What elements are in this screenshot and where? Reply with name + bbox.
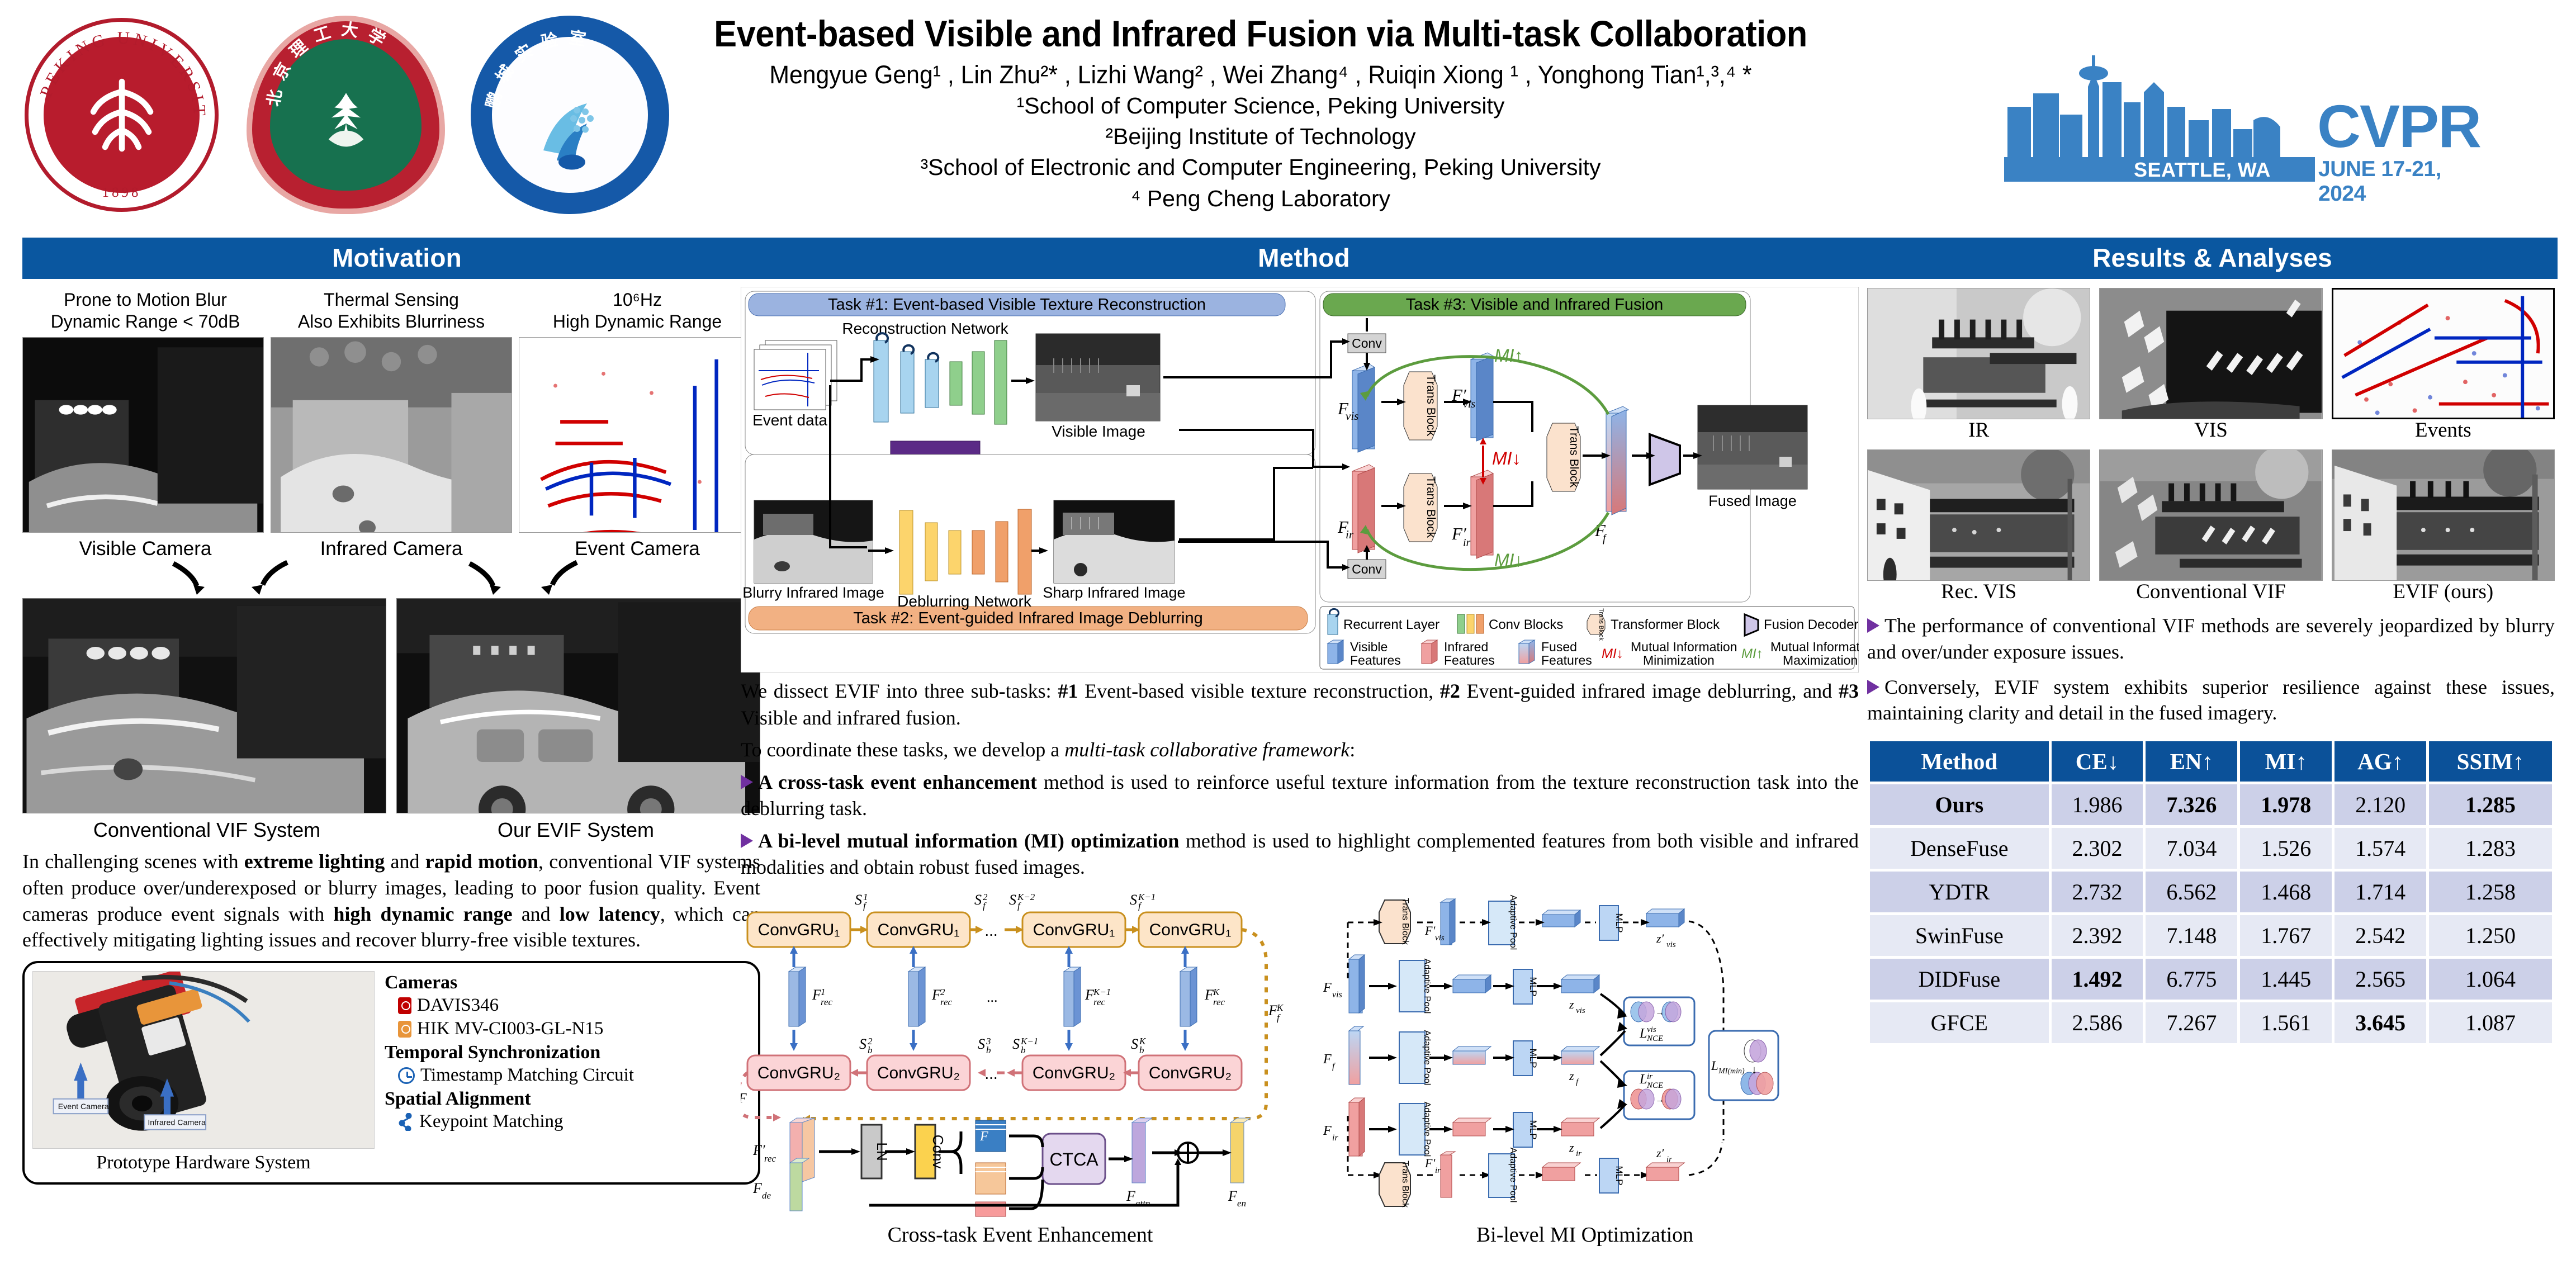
svg-text:Visible: Visible [1350,640,1388,654]
svg-text:S: S [974,892,982,908]
svg-text:F′: F′ [752,1142,765,1158]
table-row: SwinFuse2.3927.1481.7672.5421.250 [1870,915,2552,956]
svg-text:Adaptive Pool: Adaptive Pool [1508,894,1518,950]
motivation-column: Motivation Prone to Motion Blur Dynamic … [22,238,771,1185]
svg-text:NCE: NCE [1646,1034,1663,1043]
svg-text:Reconstruction Network: Reconstruction Network [842,320,1008,337]
visible-camera-image [22,337,264,533]
result-image-rec-vis [1867,449,2090,581]
svg-text:z′: z′ [1656,931,1665,945]
svg-text:K: K [1276,1002,1284,1013]
svg-text:Task #2: Event-guided Infrared: Task #2: Event-guided Infrared Image Deb… [853,609,1202,627]
svg-text:de: de [762,1190,771,1201]
result-caption-conventional-vif: Conventional VIF [2099,580,2322,604]
cell-metric: 1.561 [2240,1002,2332,1043]
svg-text:Mutual Information: Mutual Information [1770,640,1859,654]
svg-text:Fused Image: Fused Image [1708,493,1797,509]
cvpr-wordmark: CVPR [2317,101,2480,152]
svg-text:vis: vis [1647,1025,1656,1034]
svg-text:NCE: NCE [1646,1081,1663,1090]
svg-text:S: S [1012,1036,1020,1052]
svg-text:Event Camera: Event Camera [58,1102,109,1111]
cell-metric: 3.645 [2334,1002,2426,1043]
cell-method: Ours [1870,784,2049,825]
svg-text:F: F [741,1091,747,1106]
col-header-ce: CE↓ [2052,741,2143,782]
svg-text:ConvGRU₂: ConvGRU₂ [1033,1064,1115,1082]
svg-text:...: ... [987,989,998,1005]
svg-text:F: F [1228,1188,1238,1204]
hardware-item-davis346: DAVIS346 [385,995,750,1016]
cell-metric: 7.034 [2146,828,2237,869]
svg-text:1: 1 [821,987,826,997]
svg-text:Conv: Conv [1352,562,1382,576]
svg-text:Fused: Fused [1541,640,1577,654]
svg-text:S: S [859,1036,866,1052]
svg-text:MI(min): MI(min) [1718,1067,1745,1076]
cell-metric: 1.492 [2052,959,2143,1000]
hardware-heading-spatial: Spatial Alignment [385,1088,750,1110]
svg-text:Minimization: Minimization [1643,653,1715,667]
peking-university-logo: PEKING UNIVERSITY 1898 [17,10,226,220]
svg-text:ConvGRU₂: ConvGRU₂ [877,1064,960,1082]
method-lower-figures: ConvGRU₁ ConvGRU₁ ... ConvGRU₁ ConvGRU₁ [741,888,1859,1247]
cell-metric: 7.148 [2146,915,2237,956]
svg-text:f: f [1332,1062,1336,1071]
svg-text:f: f [1576,1078,1579,1087]
bit-dove-icon [310,83,382,155]
hardware-item-label: Keypoint Matching [419,1111,563,1132]
system-label-row: Conventional VIF System Our EVIF System [22,818,760,842]
camera-label-visible: Visible Camera [22,538,268,560]
cell-metric: 1.250 [2429,915,2552,956]
svg-text:MI↑: MI↑ [1494,345,1523,366]
beijing-institute-of-technology-logo: 北京理工大学 [241,10,451,220]
cell-metric: 6.562 [2146,872,2237,912]
hardware-item-label: HIK MV-CI003-GL-N15 [417,1019,603,1039]
hardware-spec-list: Cameras DAVIS346 HIK MV-CI003-GL-N15 Tem… [385,971,750,1177]
svg-text:vis: vis [1576,1006,1585,1015]
svg-text:Recurrent Layer: Recurrent Layer [1343,617,1439,632]
svg-text:L: L [1639,1026,1647,1041]
result-cell-evif: EVIF (ours) [2332,449,2555,604]
cell-metric: 2.392 [2052,915,2143,956]
poster-root: PEKING UNIVERSITY 1898 [0,0,2576,1288]
svg-text:ConvGRU₁: ConvGRU₁ [1033,921,1115,939]
svg-text:Features: Features [1350,653,1401,667]
cell-metric: 1.283 [2429,828,2552,869]
cell-metric: 1.526 [2240,828,2332,869]
hardware-item-label: Timestamp Matching Circuit [420,1065,634,1086]
svg-text:S: S [978,1036,985,1052]
svg-text:b: b [1021,1045,1026,1055]
results-table: Method CE↓ EN↑ MI↑ AG↑ SSIM↑ Ours1.9867.… [1867,738,2555,1046]
hardware-heading-temporal: Temporal Synchronization [385,1042,750,1063]
affiliation-1: ¹School of Computer Science, Peking Univ… [648,92,1873,120]
results-bullet-text: The performance of conventional VIF meth… [1867,614,2555,663]
svg-text:z: z [1569,997,1574,1011]
cell-method: DenseFuse [1870,828,2049,869]
svg-text:Features: Features [1541,653,1592,667]
camera-label-event: Event Camera [514,538,760,560]
result-cell-events: Events [2332,288,2555,442]
result-image-ir [1867,288,2090,419]
method-column: Method Task #1: Event-based Visible Text… [741,238,1867,1247]
svg-text:Features: Features [1444,653,1495,667]
result-caption-rec-vis: Rec. VIS [1867,580,2090,604]
svg-text:Deblurring Network: Deblurring Network [897,593,1032,610]
svg-text:rec: rec [940,997,953,1007]
method-bullet-1: A cross-task event enhancement method is… [741,769,1859,822]
bullet-triangle-icon [741,834,753,848]
bullet-triangle-icon [741,775,753,789]
cell-metric: 1.087 [2429,1002,2552,1043]
svg-text:F: F [979,1129,988,1144]
results-bullet-text: Conversely, EVIF system exhibits superio… [1867,676,2555,724]
svg-text:ConvGRU₁: ConvGRU₁ [878,921,960,939]
cell-metric: 6.775 [2146,959,2237,1000]
svg-text:L: L [1711,1059,1718,1073]
cell-metric: 1.986 [2052,784,2143,825]
cell-metric: 1.978 [2240,784,2332,825]
cell-metric: 2.120 [2334,784,2426,825]
svg-text:vis: vis [1346,409,1358,423]
svg-text:ConvGRU₁: ConvGRU₁ [758,921,840,939]
result-caption-ir: IR [1867,418,2090,442]
svg-text:z: z [1569,1140,1574,1154]
table-header-row: Method CE↓ EN↑ MI↑ AG↑ SSIM↑ [1870,741,2552,782]
result-caption-events: Events [2332,418,2555,442]
flow-arrows [22,560,760,597]
cross-task-diagram-svg: ConvGRU₁ ConvGRU₁ ... ConvGRU₁ ConvGRU₁ [741,888,1300,1218]
figure-caption-cross-task: Cross-task Event Enhancement [741,1223,1300,1247]
bilevel-mi-diagram-svg: Trans Block Adaptive Pool MLP [1311,888,1859,1218]
svg-text:F: F [1323,1052,1332,1067]
cell-metric: 2.542 [2334,915,2426,956]
hardware-item-keypoint: Keypoint Matching [385,1111,750,1132]
cell-metric: 1.064 [2429,959,2552,1000]
method-bullet-2: A bi-level mutual information (MI) optim… [741,828,1859,881]
svg-text:L: L [1639,1072,1647,1087]
cross-task-enhancement-figure: ConvGRU₁ ConvGRU₁ ... ConvGRU₁ ConvGRU₁ [741,888,1300,1247]
svg-text:Trans Block: Trans Block [1598,608,1604,641]
svg-text:...: ... [984,1065,997,1082]
svg-text:ConvGRU₁: ConvGRU₁ [1149,921,1232,939]
cell-metric: 1.574 [2334,828,2426,869]
result-image-vis [2099,288,2322,419]
svg-text:Fusion Decoder: Fusion Decoder [1764,617,1858,632]
hardware-photo-block: Event Camera Infrared Camera Prototype H… [32,971,375,1177]
svg-text:S: S [1130,892,1137,908]
infrared-camera-image [271,337,512,533]
cell-metric: 2.565 [2334,959,2426,1000]
hardware-item-label: DAVIS346 [417,995,499,1016]
svg-text:Sharp Infrared Image: Sharp Infrared Image [1043,584,1185,601]
svg-text:F: F [1126,1188,1136,1204]
table-row: GFCE2.5867.2671.5613.6451.087 [1870,1002,2552,1043]
sensor-captions: Prone to Motion Blur Dynamic Range < 70d… [22,289,760,333]
system-comparison-images [22,598,760,813]
svg-text:...: ... [984,922,997,939]
pengcheng-wave-icon [528,90,612,174]
svg-text:f: f [1277,1012,1281,1023]
cell-metric: 7.267 [2146,1002,2237,1043]
hardware-item-timestamp: Timestamp Matching Circuit [385,1065,750,1086]
result-image-events [2332,288,2555,419]
cell-metric: 2.732 [2052,872,2143,912]
svg-text:Conv Blocks: Conv Blocks [1489,617,1563,632]
svg-text:K−1: K−1 [1093,987,1111,997]
svg-text:Mutual Information: Mutual Information [1631,640,1737,654]
svg-text:Infrared Camera: Infrared Camera [148,1119,206,1128]
cell-method: YDTR [1870,872,2049,912]
svg-text:K: K [1213,987,1220,997]
cell-metric: 2.586 [2052,1002,2143,1043]
table-row: DIDFuse1.4926.7751.4452.5651.064 [1870,959,2552,1000]
svg-text:attn: attn [1135,1198,1150,1209]
svg-text:Task #1: Event-based Visible T: Task #1: Event-based Visible Texture Rec… [828,296,1206,314]
svg-text:rec: rec [821,997,833,1007]
result-cell-ir: IR [1867,288,2090,442]
svg-text:Trans Block: Trans Block [1400,1161,1410,1208]
method-overview-diagram: Task #1: Event-based Visible Texture Rec… [741,287,1859,673]
col-header-ssim: SSIM↑ [2429,741,2552,782]
svg-text:Blurry Infrared Image: Blurry Infrared Image [742,584,884,601]
affiliation-2: ²Beijing Institute of Technology [648,122,1873,151]
svg-text:rec: rec [1213,997,1225,1007]
svg-text:ir: ir [1332,1133,1338,1143]
svg-text:vis: vis [1332,990,1342,1000]
svg-text:ir: ir [1435,1166,1441,1175]
svg-text:b: b [868,1045,873,1055]
svg-text:MI↓: MI↓ [1494,550,1523,570]
cell-metric: 1.767 [2240,915,2332,956]
prototype-hardware-photo: Event Camera Infrared Camera [32,971,375,1149]
sensor-caption-event: 10⁶Hz High Dynamic Range [514,289,760,333]
svg-text:MI↑: MI↑ [1741,646,1763,661]
cvpr-city-label: SEATTLE, WA [2134,158,2271,182]
col-header-method: Method [1870,741,2049,782]
cvpr-logo: SEATTLE, WA CVPR JUNE 17-21, 2024 [2004,48,2490,184]
col-header-en: EN↑ [2146,741,2237,782]
svg-text:Task #3: Visible and Infrared: Task #3: Visible and Infrared Fusion [1406,296,1664,314]
svg-text:F: F [1323,1124,1332,1138]
label-conventional-vif-system: Conventional VIF System [22,818,391,842]
cell-metric: 1.468 [2240,872,2332,912]
svg-text:F: F [1323,981,1332,995]
svg-text:Adaptive Pool: Adaptive Pool [1508,1147,1518,1202]
result-image-conventional-vif [2099,449,2322,581]
svg-text:↓: ↓ [1751,1064,1757,1076]
svg-text:ir: ir [1666,1155,1672,1164]
col-header-ag: AG↑ [2334,741,2426,782]
sensor-image-row [22,337,760,533]
our-evif-system-image [396,598,760,813]
svg-text:z: z [1569,1069,1574,1083]
cell-method: SwinFuse [1870,915,2049,956]
svg-text:S: S [1009,892,1016,908]
svg-text:ir: ir [1647,1072,1652,1081]
svg-text:ConvGRU₂: ConvGRU₂ [1149,1064,1232,1082]
cell-method: GFCE [1870,1002,2049,1043]
cell-method: DIDFuse [1870,959,2049,1000]
clock-icon [398,1067,415,1084]
svg-text:S: S [855,892,862,908]
svg-text:MLP: MLP [1614,1166,1625,1185]
svg-text:Visible Image: Visible Image [1052,423,1145,440]
cell-metric: 1.714 [2334,872,2426,912]
hardware-box: Event Camera Infrared Camera Prototype H… [22,961,760,1185]
cell-metric: 7.326 [2146,784,2237,825]
svg-text:vis: vis [1666,940,1676,949]
svg-text:Trans Block: Trans Block [1400,898,1410,945]
results-column: Results & Analyses [1867,238,2558,1046]
event-camera-image [519,337,760,533]
results-image-grid: IR [1867,288,2555,604]
svg-text:F′: F′ [1424,924,1436,937]
svg-text:Conv: Conv [1352,336,1382,351]
svg-text:ir: ir [1576,1149,1581,1158]
table-row: YDTR2.7326.5621.4681.7141.258 [1870,872,2552,912]
camera-label-row: Visible Camera Infrared Camera Event Cam… [22,538,760,560]
svg-text:Trans Block: Trans Block [1424,476,1437,538]
svg-text:en: en [1237,1198,1246,1209]
title-block: Event-based Visible and Infrared Fusion … [648,15,1873,213]
result-image-evif-ours [2332,449,2555,581]
cell-metric: 1.445 [2240,959,2332,1000]
svg-text:MI↓: MI↓ [1492,448,1521,468]
result-cell-conventional: Conventional VIF [2099,449,2322,604]
camera-label-infrared: Infrared Camera [268,538,514,560]
result-cell-rec-vis: Rec. VIS [1867,449,2090,604]
svg-text:rec: rec [1093,997,1106,1007]
section-header-results: Results & Analyses [1867,238,2558,279]
label-our-evif-system: Our EVIF System [391,818,760,842]
camera-orange-icon [398,1021,411,1038]
method-paragraph-1: We dissect EVIF into three sub-tasks: #1… [741,678,1859,731]
result-caption-evif-ours: EVIF (ours) [2332,580,2555,604]
svg-text:Transformer Block: Transformer Block [1611,617,1720,632]
result-caption-vis: VIS [2099,418,2322,442]
conventional-vif-image [22,598,386,813]
table-row: Ours1.9867.3261.9782.1201.285 [1870,784,2552,825]
svg-text:2: 2 [940,987,945,997]
svg-text:Event data: Event data [752,411,827,429]
results-bullet-2: Conversely, EVIF system exhibits superio… [1867,674,2555,727]
svg-text:b: b [986,1045,991,1055]
cell-metric: 2.302 [2052,828,2143,869]
sensor-caption-visible: Prone to Motion Blur Dynamic Range < 70d… [22,289,268,333]
camera-red-icon [398,997,411,1014]
pku-year-label: 1898 [102,185,141,201]
svg-text:MI↓: MI↓ [1602,646,1623,661]
hardware-item-hik: HIK MV-CI003-GL-N15 [385,1019,750,1039]
hardware-heading-cameras: Cameras [385,972,750,993]
affiliation-4: ⁴ Peng Cheng Laboratory [648,184,1873,213]
method-diagram-svg: Task #1: Event-based Visible Texture Rec… [741,287,1859,673]
page-title: Event-based Visible and Infrared Fusion … [692,15,1830,54]
svg-text:Infrared: Infrared [1444,640,1488,654]
table-row: DenseFuse2.3027.0341.5261.5741.283 [1870,828,2552,869]
motivation-paragraph: In challenging scenes with extreme light… [22,849,760,953]
affiliation-3: ³School of Electronic and Computer Engin… [648,153,1873,182]
svg-text:ir: ir [1346,528,1354,541]
svg-text:Trans Block: Trans Block [1568,426,1580,488]
svg-text:z′: z′ [1656,1146,1665,1160]
svg-text:Maximization: Maximization [1783,653,1858,667]
svg-text:F: F [752,1180,763,1196]
cell-metric: 1.258 [2429,872,2552,912]
sensor-caption-infrared: Thermal Sensing Also Exhibits Blurriness [268,289,514,333]
bilevel-mi-figure: Trans Block Adaptive Pool MLP [1311,888,1859,1247]
keypoint-icon [398,1113,414,1131]
col-header-mi: MI↑ [2240,741,2332,782]
svg-text:Trans Block: Trans Block [1424,375,1437,437]
curved-arrow-icons [22,560,760,597]
pengcheng-laboratory-logo: 鹏城实验室 [465,10,675,220]
svg-text:rec: rec [764,1153,776,1164]
table-body: Ours1.9867.3261.9782.1201.285DenseFuse2.… [1870,784,2552,1043]
method-paragraph-2: To coordinate these tasks, we develop a … [741,737,1859,764]
results-bullet-1: The performance of conventional VIF meth… [1867,613,2555,665]
cell-metric: 1.285 [2429,784,2552,825]
figure-caption-bilevel-mi: Bi-level MI Optimization [1311,1223,1859,1247]
pku-bei-glyph-icon [80,73,164,157]
bullet-triangle-icon [1867,618,1879,633]
svg-text:S: S [1131,1036,1138,1052]
svg-text:F′: F′ [1424,1156,1436,1170]
svg-text:vis: vis [1435,934,1445,943]
cvpr-date-label: JUNE 17-21, 2024 [2318,157,2490,206]
hardware-photo-caption: Prototype Hardware System [32,1152,375,1173]
svg-text:ir: ir [1463,537,1471,549]
author-list: Mengyue Geng¹ , Lin Zhu²* , Lizhi Wang² … [679,60,1843,89]
section-header-method: Method [741,238,1867,279]
logo-group: PEKING UNIVERSITY 1898 [17,10,675,220]
poster-header: PEKING UNIVERSITY 1898 [0,0,2576,229]
svg-text:CTCA: CTCA [1049,1149,1098,1169]
svg-text:ConvGRU₂: ConvGRU₂ [757,1064,840,1082]
svg-text:b: b [1139,1045,1144,1055]
bullet-triangle-icon [1867,680,1879,694]
result-cell-vis: VIS [2099,288,2322,442]
section-header-motivation: Motivation [22,238,771,279]
